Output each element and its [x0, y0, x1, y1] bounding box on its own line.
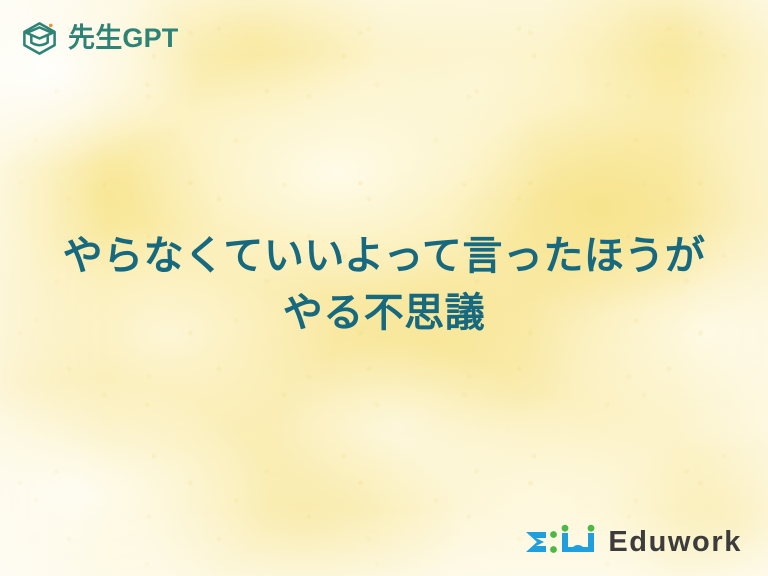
eduwork-dot-upper: [550, 531, 557, 538]
slide-canvas: 先生GPT やらなくていいよって言ったほうが やる不思議 Eduwork: [0, 0, 768, 576]
footer-brand: Eduwork: [523, 522, 742, 562]
headline: やらなくていいよって言ったほうが やる不思議: [0, 228, 768, 342]
eduwork-dot-right: [588, 525, 595, 532]
headline-line-1: やらなくていいよって言ったほうが: [28, 228, 740, 285]
brand-wordmark: 先生GPT: [68, 25, 179, 52]
eduwork-wordmark: Eduwork: [608, 528, 742, 557]
logo-accent-dot: [49, 24, 53, 28]
eduwork-dot-lower: [550, 546, 557, 553]
brand-header: 先生GPT: [20, 19, 179, 58]
headline-line-2: やる不思議: [28, 285, 740, 342]
graduation-cap-hexagon-icon: [20, 19, 59, 58]
eduwork-dot-left: [562, 525, 569, 532]
eduwork-e-w-monogram-icon: [523, 522, 597, 562]
